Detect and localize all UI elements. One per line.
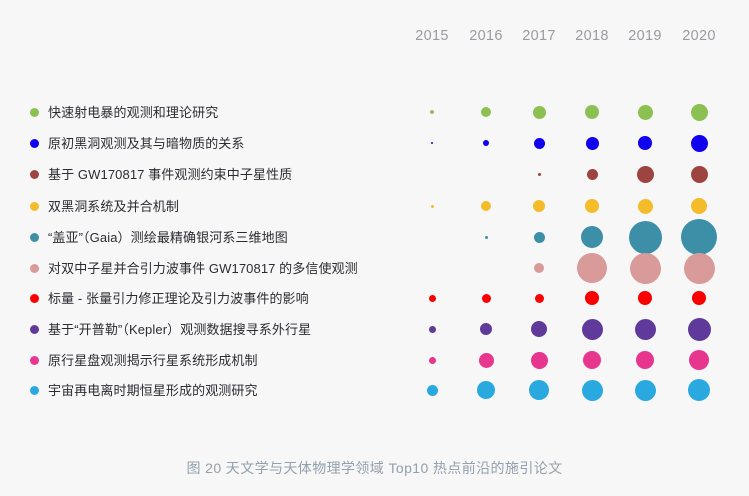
figure-caption: 图 20 天文学与天体物理学领域 Top10 热点前沿的施引论文 (0, 458, 749, 478)
bubble[interactable] (638, 105, 653, 120)
row-label: 基于 GW170817 事件观测约束中子星性质 (48, 159, 292, 190)
bubble[interactable] (691, 135, 708, 152)
row-legend-7[interactable]: 标量 - 张量引力修正理论及引力波事件的影响 (30, 283, 309, 314)
bubble[interactable] (638, 136, 652, 150)
bubble[interactable] (585, 199, 599, 213)
bubble[interactable] (430, 110, 434, 114)
bubble[interactable] (636, 351, 654, 369)
bubble[interactable] (531, 352, 548, 369)
chart-row: 宇宙再电离时期恒星形成的观测研究 (0, 375, 749, 406)
row-label: 原初黑洞观测及其与暗物质的关系 (48, 128, 245, 159)
row-label: 宇宙再电离时期恒星形成的观测研究 (48, 375, 258, 406)
row-label: 快速射电暴的观测和理论研究 (48, 97, 218, 128)
row-label: 原行星盘观测揭示行星系统形成机制 (48, 345, 258, 376)
bubble[interactable] (637, 166, 654, 183)
row-label: 基于“开普勒”（Kepler）观测数据搜寻系外行星 (48, 314, 311, 345)
chart-row: 基于“开普勒”（Kepler）观测数据搜寻系外行星 (0, 314, 749, 345)
bubble[interactable] (688, 318, 711, 341)
bubble[interactable] (635, 380, 656, 401)
bubble[interactable] (585, 105, 599, 119)
chart-row: 原初黑洞观测及其与暗物质的关系 (0, 128, 749, 159)
row-label: 双黑洞系统及并合机制 (48, 191, 179, 222)
bubble[interactable] (638, 199, 653, 214)
legend-dot-icon (30, 170, 39, 179)
chart-row: 原行星盘观测揭示行星系统形成机制 (0, 345, 749, 376)
row-legend-4[interactable]: 双黑洞系统及并合机制 (30, 191, 179, 222)
bubble-chart-page: 201520162017201820192020 快速射电暴的观测和理论研究原初… (0, 0, 749, 496)
row-legend-9[interactable]: 原行星盘观测揭示行星系统形成机制 (30, 345, 258, 376)
bubble[interactable] (581, 226, 603, 248)
bubble[interactable] (691, 166, 708, 183)
bubble[interactable] (529, 380, 549, 400)
bubble[interactable] (538, 173, 541, 176)
bubble[interactable] (534, 263, 544, 273)
bubble[interactable] (534, 138, 545, 149)
bubble[interactable] (535, 294, 544, 303)
bubble[interactable] (485, 236, 488, 239)
bubble[interactable] (587, 169, 598, 180)
bubble[interactable] (586, 137, 599, 150)
bubble[interactable] (577, 253, 607, 283)
bubble[interactable] (691, 198, 707, 214)
bubble[interactable] (684, 253, 715, 284)
row-legend-1[interactable]: 快速射电暴的观测和理论研究 (30, 97, 218, 128)
row-legend-6[interactable]: 对双中子星并合引力波事件 GW170817 的多信使观测 (30, 253, 358, 284)
chart-row: 基于 GW170817 事件观测约束中子星性质 (0, 159, 749, 190)
chart-row: 双黑洞系统及并合机制 (0, 191, 749, 222)
bubble[interactable] (582, 380, 603, 401)
chart-rows: 快速射电暴的观测和理论研究原初黑洞观测及其与暗物质的关系基于 GW170817 … (0, 0, 749, 420)
bubble[interactable] (479, 353, 494, 368)
bubble[interactable] (681, 219, 717, 255)
bubble[interactable] (480, 323, 492, 335)
bubble[interactable] (630, 253, 661, 284)
bubble[interactable] (583, 351, 601, 369)
bubble[interactable] (482, 294, 491, 303)
legend-dot-icon (30, 139, 39, 148)
row-legend-5[interactable]: “盖亚”（Gaia）测绘最精确银河系三维地图 (30, 222, 288, 253)
row-label: 标量 - 张量引力修正理论及引力波事件的影响 (48, 283, 309, 314)
row-legend-3[interactable]: 基于 GW170817 事件观测约束中子星性质 (30, 159, 292, 190)
row-label: 对双中子星并合引力波事件 GW170817 的多信使观测 (48, 253, 358, 284)
legend-dot-icon (30, 294, 39, 303)
bubble[interactable] (427, 385, 438, 396)
chart-row: 对双中子星并合引力波事件 GW170817 的多信使观测 (0, 253, 749, 284)
bubble[interactable] (429, 357, 436, 364)
chart-row: “盖亚”（Gaia）测绘最精确银河系三维地图 (0, 222, 749, 253)
bubble[interactable] (481, 201, 491, 211)
legend-dot-icon (30, 108, 39, 117)
legend-dot-icon (30, 264, 39, 273)
bubble[interactable] (638, 291, 652, 305)
bubble[interactable] (483, 140, 489, 146)
bubble[interactable] (429, 326, 436, 333)
bubble[interactable] (689, 350, 709, 370)
bubble[interactable] (481, 107, 491, 117)
bubble[interactable] (629, 221, 662, 254)
bubble[interactable] (635, 319, 656, 340)
row-legend-2[interactable]: 原初黑洞观测及其与暗物质的关系 (30, 128, 245, 159)
bubble[interactable] (534, 232, 545, 243)
bubble[interactable] (429, 295, 436, 302)
row-label: “盖亚”（Gaia）测绘最精确银河系三维地图 (48, 222, 288, 253)
legend-dot-icon (30, 356, 39, 365)
bubble[interactable] (531, 321, 547, 337)
bubble[interactable] (585, 291, 599, 305)
legend-dot-icon (30, 386, 39, 395)
bubble[interactable] (431, 205, 434, 208)
chart-row: 快速射电暴的观测和理论研究 (0, 97, 749, 128)
legend-dot-icon (30, 325, 39, 334)
bubble[interactable] (688, 379, 710, 401)
legend-dot-icon (30, 233, 39, 242)
legend-dot-icon (30, 202, 39, 211)
bubble[interactable] (691, 104, 708, 121)
bubble[interactable] (692, 291, 706, 305)
bubble[interactable] (582, 319, 603, 340)
bubble[interactable] (533, 106, 546, 119)
bubble[interactable] (477, 381, 495, 399)
row-legend-10[interactable]: 宇宙再电离时期恒星形成的观测研究 (30, 375, 258, 406)
chart-row: 标量 - 张量引力修正理论及引力波事件的影响 (0, 283, 749, 314)
row-legend-8[interactable]: 基于“开普勒”（Kepler）观测数据搜寻系外行星 (30, 314, 311, 345)
bubble[interactable] (533, 200, 545, 212)
bubble[interactable] (431, 142, 433, 144)
